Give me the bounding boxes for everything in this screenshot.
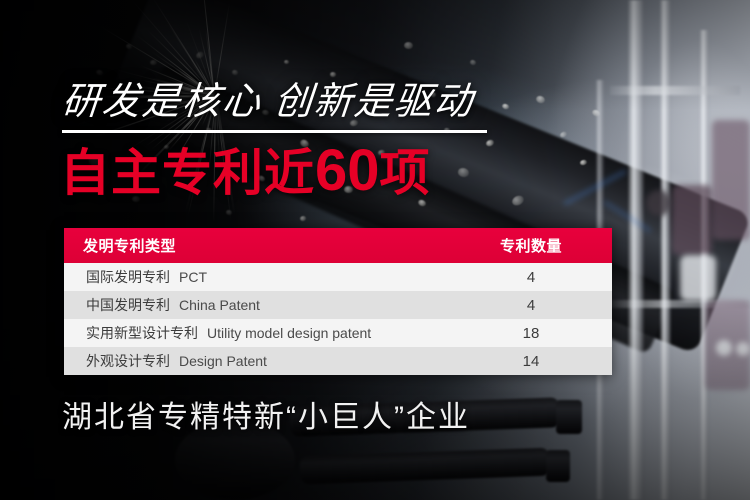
table-cell-type: 外观设计专利Design Patent (64, 351, 456, 371)
table-cell-type-cn: 实用新型设计专利 (86, 325, 198, 341)
table-cell-type-cn: 外观设计专利 (86, 353, 170, 369)
headline-part-2: 创新是驱动 (272, 81, 476, 123)
page-title-number: 60 (315, 138, 380, 203)
table-body: 国际发明专利PCT4中国发明专利China Patent4实用新型设计专利Uti… (64, 263, 612, 375)
headline-divider (62, 130, 487, 133)
page-headline: 研发是核心创新是驱动 (60, 80, 476, 124)
table-cell-type: 中国发明专利China Patent (64, 295, 456, 315)
table-row: 中国发明专利China Patent4 (64, 291, 612, 319)
table-cell-type-en: Utility model design patent (207, 325, 371, 341)
table-cell-type-cn: 中国发明专利 (86, 297, 170, 313)
table-cell-type-en: China Patent (179, 297, 260, 313)
patent-table: 发明专利类型 专利数量 国际发明专利PCT4中国发明专利China Patent… (64, 228, 612, 375)
table-cell-type-en: PCT (179, 269, 207, 285)
page-title-prefix: 自主专利近 (60, 145, 315, 201)
table-cell-count: 18 (456, 325, 612, 342)
table-header-count: 专利数量 (456, 235, 612, 256)
table-header-type: 发明专利类型 (64, 235, 456, 256)
table-row: 外观设计专利Design Patent14 (64, 347, 612, 375)
promo-banner: 研发是核心创新是驱动 自主专利近60项 发明专利类型 专利数量 国际发明专利PC… (0, 0, 750, 500)
table-cell-count: 14 (456, 353, 612, 370)
table-cell-type-en: Design Patent (179, 353, 267, 369)
page-title-suffix: 项 (380, 145, 431, 201)
table-row: 实用新型设计专利Utility model design patent18 (64, 319, 612, 347)
footer-tagline: 湖北省专精特新“小巨人”企业 (62, 398, 470, 438)
table-row: 国际发明专利PCT4 (64, 263, 612, 291)
table-cell-count: 4 (456, 269, 612, 286)
table-cell-type: 实用新型设计专利Utility model design patent (64, 323, 456, 343)
page-title: 自主专利近60项 (60, 141, 431, 203)
table-cell-type-cn: 国际发明专利 (86, 269, 170, 285)
table-header-row: 发明专利类型 专利数量 (64, 228, 612, 263)
headline-part-1: 研发是核心 (60, 81, 264, 123)
table-cell-type: 国际发明专利PCT (64, 267, 456, 287)
table-cell-count: 4 (456, 297, 612, 314)
